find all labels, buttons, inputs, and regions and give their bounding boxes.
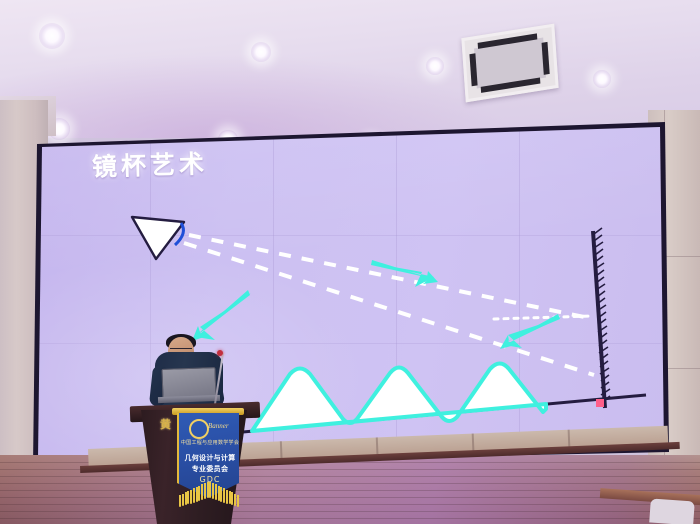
audience-seat-back — [649, 498, 695, 524]
banner-fringe — [204, 483, 206, 499]
banner-fringe — [207, 482, 209, 499]
slide-title: 镜杯艺术 — [92, 144, 209, 183]
floor-plank — [0, 518, 700, 519]
ceiling-downlight-3 — [426, 57, 444, 75]
banner-fringe — [218, 486, 220, 501]
mountain-range — [252, 364, 546, 432]
banner-fringe — [182, 494, 184, 506]
banner-fringe — [223, 488, 225, 502]
mirror-surface — [593, 231, 605, 408]
banner-fringe — [190, 490, 192, 504]
ceiling-downlight-1 — [39, 23, 65, 49]
floor-plank — [0, 511, 700, 512]
banner-fringe — [185, 492, 187, 505]
ray-dotted-normal — [494, 316, 590, 319]
banner-logo-icon — [189, 419, 209, 439]
banner-script-text: Banner — [208, 422, 229, 430]
ray-lower-dashed — [184, 243, 594, 375]
mirror-base-marker — [596, 399, 604, 407]
floor-plank — [0, 490, 700, 491]
floor-plank — [0, 504, 700, 505]
banner-fringe — [193, 488, 195, 502]
banner-fringe — [237, 495, 239, 507]
floor-plank — [0, 476, 700, 477]
arrow-upper-right — [371, 260, 438, 284]
floor-plank — [0, 483, 700, 484]
banner-fringe — [179, 495, 181, 507]
banner-fringe — [229, 491, 231, 504]
banner-fringe — [196, 487, 198, 502]
vent-slot-right — [542, 42, 550, 75]
banner-fringe — [187, 491, 189, 504]
ceiling-downlight-4 — [593, 70, 611, 88]
floor-plank — [0, 497, 700, 498]
banner-fringe — [212, 483, 214, 499]
screenshot-root: 镜杯艺术 黄 岛 Banner 中国工程与应用数学学会 几何设计与计算 专业委员… — [0, 0, 700, 524]
banner-title-line-2: 专业委员会 — [179, 464, 241, 474]
banner-title-line-1: 几何设计与计算 — [179, 453, 241, 463]
microphone-head — [217, 350, 223, 356]
banner-fringe — [234, 494, 236, 506]
ray-upper-dashed — [189, 235, 594, 319]
banner-fringe — [226, 490, 228, 504]
ceiling-light-tint — [0, 0, 700, 138]
banner-fringe — [215, 484, 217, 500]
ceiling-downlight-2 — [251, 42, 271, 62]
banner-org-line: 中国工程与应用数学学会 — [179, 439, 241, 446]
banner-fringe — [201, 484, 203, 500]
lectern-gold-char-left: 黄 — [160, 416, 171, 432]
viewer-eye-cone — [132, 217, 184, 259]
